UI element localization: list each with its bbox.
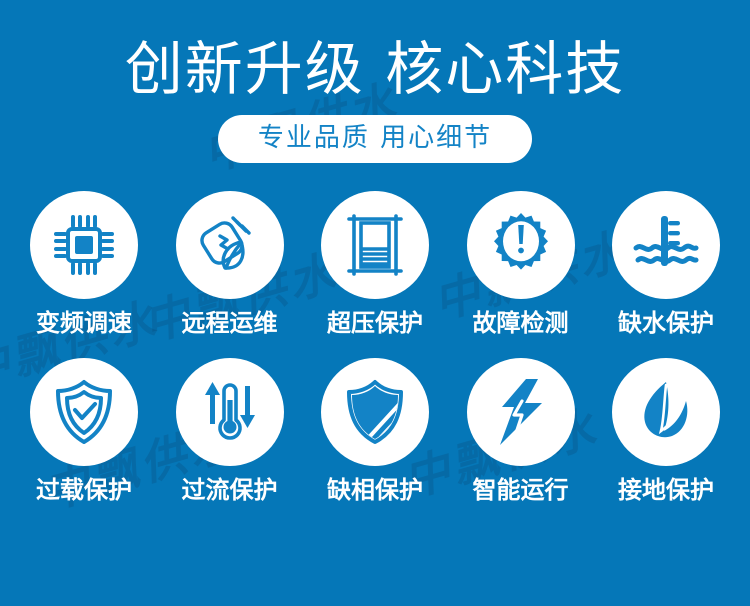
icon-circle <box>467 191 575 299</box>
icon-circle <box>321 358 429 466</box>
icon-circle <box>321 191 429 299</box>
press-gauge-icon <box>344 212 406 278</box>
page-title: 创新升级 核心科技 <box>0 38 750 101</box>
cpu-chip-icon <box>51 212 117 278</box>
subtitle-container: 专业品质 用心细节 <box>0 115 750 164</box>
feature-item-bianpin-tiaosu[interactable]: 变频调速 <box>18 191 150 338</box>
subtitle-badge: 专业品质 用心细节 <box>218 115 532 164</box>
icon-circle <box>467 358 575 466</box>
feature-item-yuancheng-yunwei[interactable]: 远程运维 <box>164 191 296 338</box>
plug-leaf-icon <box>196 212 264 278</box>
icon-circle <box>612 191 720 299</box>
feature-label: 缺相保护 <box>327 477 423 505</box>
feature-item-chaoya-baohu[interactable]: 超压保护 <box>309 191 441 338</box>
feature-item-zhineng-yunxing[interactable]: 智能运行 <box>455 358 587 505</box>
feature-item-guozai-baohu[interactable]: 过载保护 <box>18 358 150 505</box>
icon-circle <box>612 358 720 466</box>
feature-row: 变频调速 远 <box>18 191 732 338</box>
feature-label: 远程运维 <box>182 310 278 338</box>
feature-item-jiedi-baohu[interactable]: 接地保护 <box>600 358 732 505</box>
feature-label: 智能运行 <box>473 477 569 505</box>
gear-alert-icon <box>488 212 554 278</box>
feature-label: 变频调速 <box>36 310 132 338</box>
feature-row: 过载保护 <box>18 358 732 505</box>
lightning-bolt-icon <box>492 377 550 447</box>
icon-circle <box>30 191 138 299</box>
icon-circle <box>176 191 284 299</box>
feature-label: 过流保护 <box>182 477 278 505</box>
feature-item-queshui-baohu[interactable]: 缺水保护 <box>600 191 732 338</box>
leaf-flame-icon <box>634 379 698 445</box>
feature-grid: 变频调速 远 <box>0 191 750 504</box>
feature-label: 缺水保护 <box>618 310 714 338</box>
thermometer-arrows-icon <box>198 378 262 446</box>
feature-item-guoliu-baohu[interactable]: 过流保护 <box>164 358 296 505</box>
promo-banner: 中飘供水 中飘供水 中飘供水 中飘供水 中飘供水 中飘供水 创新升级 核心科技 … <box>0 0 750 606</box>
shield-check-icon <box>53 379 115 445</box>
feature-label: 过载保护 <box>36 477 132 505</box>
shield-striped-icon <box>344 379 406 445</box>
feature-label: 故障检测 <box>473 310 569 338</box>
feature-label: 超压保护 <box>327 310 423 338</box>
feature-item-guzhang-jiance[interactable]: 故障检测 <box>455 191 587 338</box>
feature-item-quexiang-baohu[interactable]: 缺相保护 <box>309 358 441 505</box>
icon-circle <box>176 358 284 466</box>
icon-circle <box>30 358 138 466</box>
header: 创新升级 核心科技 专业品质 用心细节 <box>0 0 750 163</box>
water-level-icon <box>631 214 701 276</box>
feature-label: 接地保护 <box>618 477 714 505</box>
